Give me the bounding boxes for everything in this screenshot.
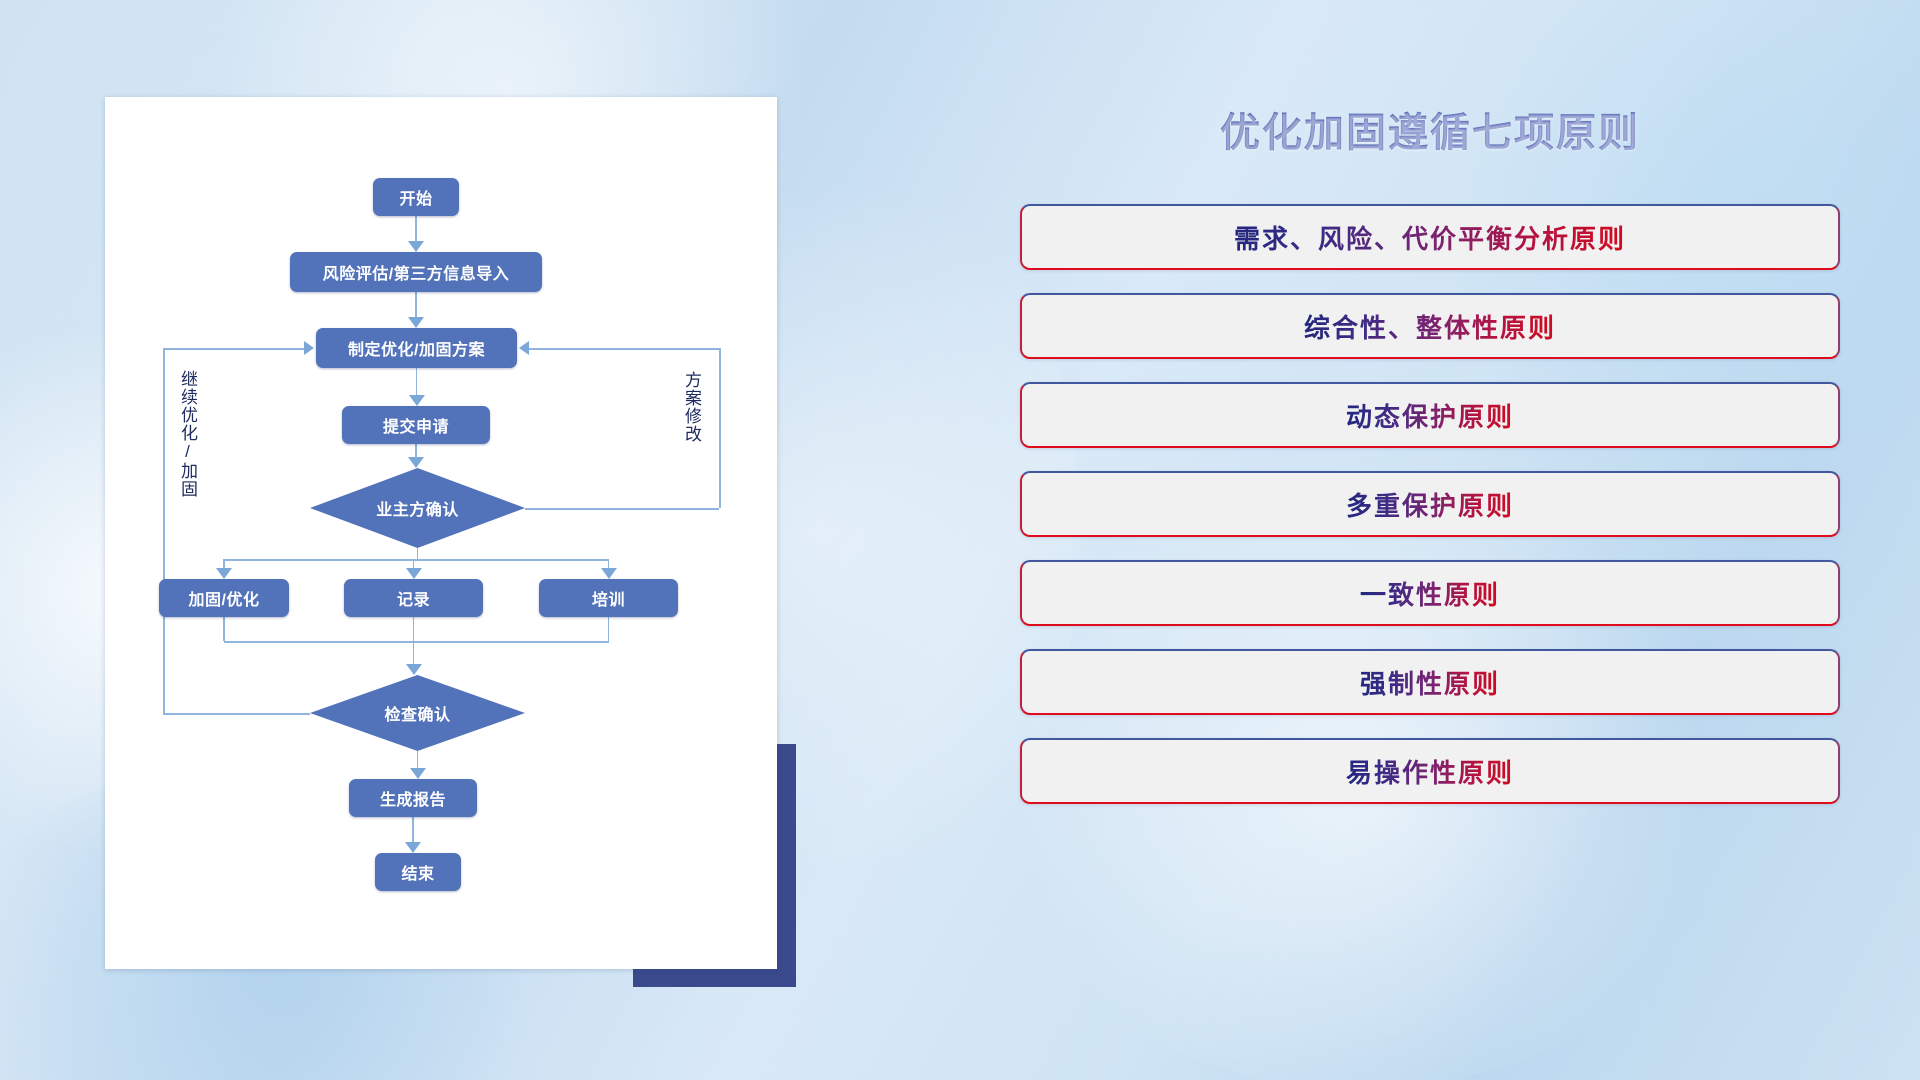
flow-node-owner: 业主方确认 xyxy=(310,468,525,548)
flow-node-plan: 制定优化/加固方案 xyxy=(316,328,517,368)
connector-arrow xyxy=(408,241,424,252)
flowchart-canvas: 开始风险评估/第三方信息导入制定优化/加固方案提交申请 业主方确认加固/优化记录… xyxy=(153,145,729,921)
page-title: 优化加固遵循七项原则 xyxy=(1020,100,1840,158)
connector-line xyxy=(224,559,609,561)
connector-arrow xyxy=(410,768,426,779)
principle-box-5: 一致性原则 xyxy=(1020,560,1840,626)
principle-row: 动态保护原则 xyxy=(1020,382,1840,448)
flow-node-label: 生成报告 xyxy=(380,786,446,810)
flow-node-report: 生成报告 xyxy=(349,779,477,817)
connector-line xyxy=(413,617,415,666)
flow-node-record: 记录 xyxy=(344,579,483,617)
principles-panel: 优化加固遵循七项原则 需求、风险、代价平衡分析原则综合性、整体性原则动态保护原则… xyxy=(1020,100,1840,827)
flow-node-submit: 提交申请 xyxy=(342,406,490,444)
principle-row: 综合性、整体性原则 xyxy=(1020,293,1840,359)
connector-line xyxy=(719,348,721,508)
connector-arrow xyxy=(216,568,232,579)
principle-label: 多重保护原则 xyxy=(1346,486,1514,523)
principle-box-6: 强制性原则 xyxy=(1020,649,1840,715)
principle-label: 强制性原则 xyxy=(1360,664,1500,701)
connector-line xyxy=(416,368,418,397)
connector-line xyxy=(529,348,719,350)
connector-line xyxy=(163,713,310,715)
principle-box-1: 需求、风险、代价平衡分析原则 xyxy=(1020,204,1840,270)
principle-label: 动态保护原则 xyxy=(1346,397,1514,434)
connector-arrow xyxy=(405,842,421,853)
principle-row: 需求、风险、代价平衡分析原则 xyxy=(1020,204,1840,270)
connector-arrow xyxy=(409,395,425,406)
connector-arrow xyxy=(408,457,424,468)
principle-label: 需求、风险、代价平衡分析原则 xyxy=(1234,219,1626,256)
principle-box-4: 多重保护原则 xyxy=(1020,471,1840,537)
principle-list: 需求、风险、代价平衡分析原则综合性、整体性原则动态保护原则多重保护原则一致性原则… xyxy=(1020,204,1840,804)
flow-node-label: 风险评估/第三方信息导入 xyxy=(323,260,509,284)
flow-edge-label-continue-optimize: 继续优化/加固 xyxy=(177,370,197,498)
principle-row: 强制性原则 xyxy=(1020,649,1840,715)
flow-node-check: 检查确认 xyxy=(310,675,525,751)
connector-line xyxy=(415,216,417,243)
principle-box-3: 动态保护原则 xyxy=(1020,382,1840,448)
connector-line xyxy=(163,348,304,350)
flow-node-label: 加固/优化 xyxy=(189,586,260,610)
flow-node-label: 开始 xyxy=(399,185,432,209)
principle-row: 易操作性原则 xyxy=(1020,738,1840,804)
flow-node-label: 制定优化/加固方案 xyxy=(348,336,485,360)
connector-arrow xyxy=(304,341,314,355)
flow-node-risk: 风险评估/第三方信息导入 xyxy=(290,252,542,292)
flow-node-label: 记录 xyxy=(397,586,430,610)
principle-box-2: 综合性、整体性原则 xyxy=(1020,293,1840,359)
principle-row: 多重保护原则 xyxy=(1020,471,1840,537)
principle-row: 一致性原则 xyxy=(1020,560,1840,626)
connector-line xyxy=(163,348,165,713)
connector-line xyxy=(412,817,414,844)
principle-label: 易操作性原则 xyxy=(1346,753,1514,790)
connector-arrow xyxy=(406,568,422,579)
principle-label: 一致性原则 xyxy=(1360,575,1500,612)
connector-arrow xyxy=(519,341,529,355)
flowchart-card: 开始风险评估/第三方信息导入制定优化/加固方案提交申请 业主方确认加固/优化记录… xyxy=(105,97,777,969)
flow-edge-label-plan-revise: 方案修改 xyxy=(681,371,701,443)
principle-box-7: 易操作性原则 xyxy=(1020,738,1840,804)
connector-line xyxy=(525,508,719,510)
connector-line xyxy=(417,548,419,559)
connector-line xyxy=(224,641,609,643)
flow-node-label: 提交申请 xyxy=(383,413,449,437)
flow-node-train: 培训 xyxy=(539,579,678,617)
flow-node-reinforce: 加固/优化 xyxy=(159,579,289,617)
connector-arrow xyxy=(408,317,424,328)
flow-node-start: 开始 xyxy=(373,178,459,216)
principle-label: 综合性、整体性原则 xyxy=(1304,308,1556,345)
flow-node-label: 业主方确认 xyxy=(310,468,525,548)
flow-node-end: 结束 xyxy=(375,853,461,891)
connector-arrow xyxy=(406,664,422,675)
flow-node-label: 结束 xyxy=(401,860,434,884)
flow-node-label: 检查确认 xyxy=(310,675,525,751)
connector-line xyxy=(608,617,610,641)
flow-node-label: 培训 xyxy=(592,586,625,610)
connector-arrow xyxy=(601,568,617,579)
connector-line xyxy=(223,617,225,641)
connector-line xyxy=(415,292,417,319)
